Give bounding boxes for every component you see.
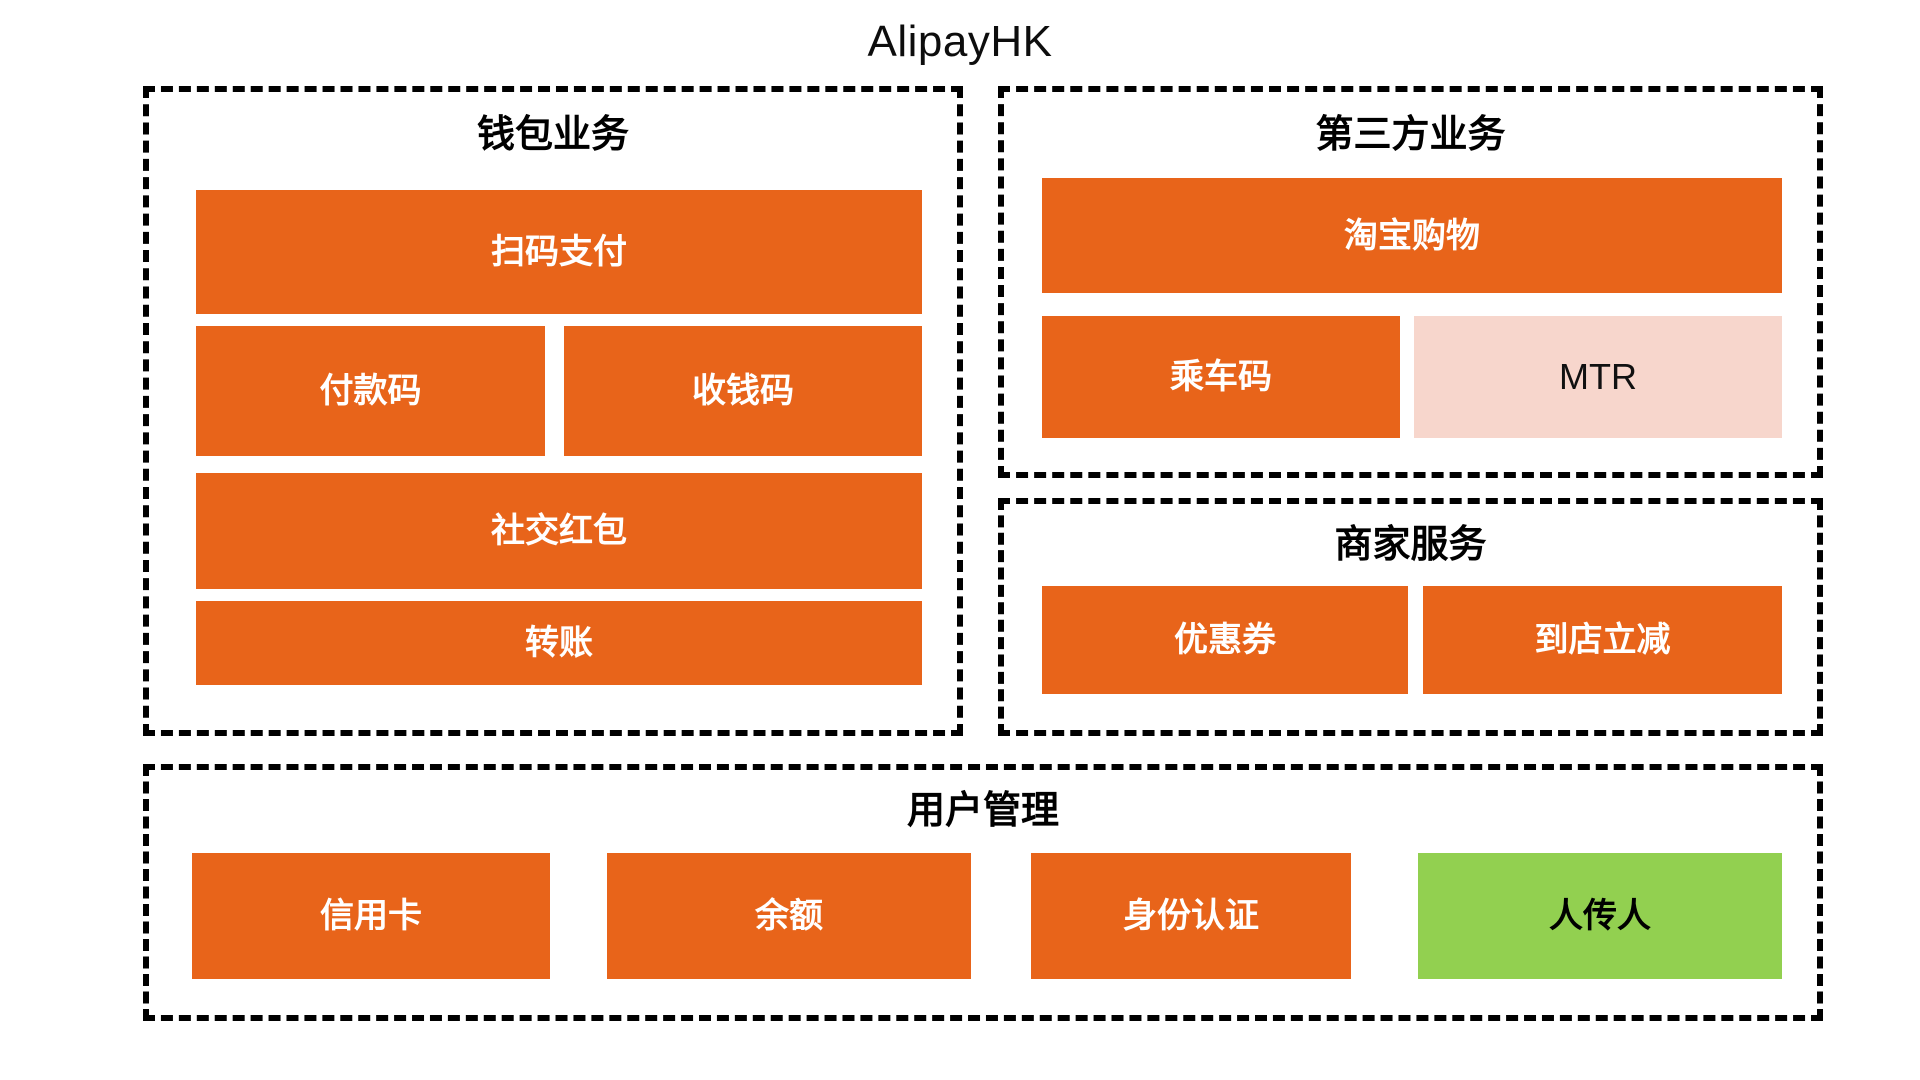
- box-transfer[interactable]: 转账: [196, 601, 922, 685]
- panel-title-wallet-business: 钱包业务: [149, 116, 957, 156]
- panel-title-third-party-business: 第三方业务: [1004, 116, 1817, 156]
- panel-title-user-management: 用户管理: [149, 792, 1817, 832]
- box-balance[interactable]: 余额: [607, 853, 971, 979]
- box-coupon[interactable]: 优惠券: [1042, 586, 1408, 694]
- box-mtr[interactable]: MTR: [1414, 316, 1782, 438]
- panel-title-merchant-services: 商家服务: [1004, 526, 1817, 566]
- box-taobao-shopping[interactable]: 淘宝购物: [1042, 178, 1782, 293]
- box-collection-code[interactable]: 收钱码: [564, 326, 922, 456]
- box-credit-card[interactable]: 信用卡: [192, 853, 550, 979]
- box-payment-code[interactable]: 付款码: [196, 326, 545, 456]
- box-ride-code[interactable]: 乘车码: [1042, 316, 1400, 438]
- diagram-canvas: AlipayHK 钱包业务 扫码支付 付款码 收钱码 社交红包 转账 第三方业务…: [0, 0, 1920, 1080]
- box-person-to-person[interactable]: 人传人: [1418, 853, 1782, 979]
- box-identity-verification[interactable]: 身份认证: [1031, 853, 1351, 979]
- box-social-red-packet[interactable]: 社交红包: [196, 473, 922, 589]
- page-title: AlipayHK: [0, 18, 1920, 66]
- box-scan-pay[interactable]: 扫码支付: [196, 190, 922, 314]
- box-in-store-discount[interactable]: 到店立减: [1423, 586, 1782, 694]
